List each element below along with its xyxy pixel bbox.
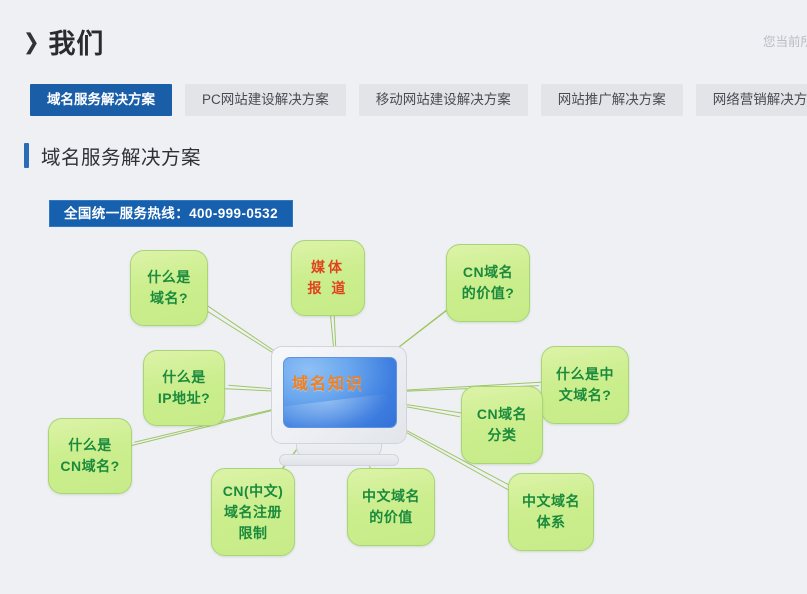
mindmap: 域名知识 什么是 域名?媒体 报 道CN域名 的价值?什么是 IP地址?什么是中… bbox=[0, 228, 807, 568]
tab-1[interactable]: PC网站建设解决方案 bbox=[185, 84, 346, 116]
mindmap-node-label: CN(中文) 域名注册 限制 bbox=[223, 481, 284, 544]
mindmap-node-label: 什么是中 文域名? bbox=[556, 364, 614, 406]
mindmap-center-node[interactable]: 域名知识 bbox=[271, 346, 405, 466]
mindmap-node-label: 什么是 域名? bbox=[147, 267, 191, 309]
monitor-icon: 域名知识 bbox=[271, 346, 407, 444]
section-title: 域名服务解决方案 bbox=[41, 141, 201, 170]
mindmap-node-media-report[interactable]: 媒体 报 道 bbox=[291, 240, 365, 316]
mindmap-node-what-is-cn-domain[interactable]: 什么是 CN域名? bbox=[48, 418, 132, 494]
mindmap-node-what-is-domain[interactable]: 什么是 域名? bbox=[130, 250, 208, 326]
mindmap-node-cn-domain-category[interactable]: CN域名 分类 bbox=[461, 386, 543, 464]
page-root: ❯ 我们 您当前所 域名服务解决方案PC网站建设解决方案移动网站建设解决方案网站… bbox=[0, 0, 807, 594]
section-accent-bar bbox=[24, 143, 29, 168]
monitor-base-icon bbox=[279, 454, 399, 466]
mindmap-node-chinese-domain-system[interactable]: 中文域名 体系 bbox=[508, 473, 594, 551]
hotline-banner: 全国统一服务热线：400-999-0532 bbox=[49, 200, 293, 227]
tab-4[interactable]: 网络营销解决方案 bbox=[696, 84, 807, 116]
page-header: ❯ 我们 您当前所 bbox=[0, 0, 807, 72]
mindmap-node-label: 中文域名 的价值 bbox=[362, 486, 420, 528]
mindmap-node-label: 媒体 报 道 bbox=[308, 257, 349, 299]
page-title-text: 我们 bbox=[48, 22, 104, 61]
tab-2[interactable]: 移动网站建设解决方案 bbox=[359, 84, 528, 116]
section-header: 域名服务解决方案 bbox=[24, 141, 201, 170]
mindmap-node-label: 什么是 IP地址? bbox=[158, 367, 210, 409]
tab-0[interactable]: 域名服务解决方案 bbox=[30, 84, 172, 116]
chevron-right-icon: ❯ bbox=[23, 31, 40, 53]
mindmap-node-label: 什么是 CN域名? bbox=[60, 435, 119, 477]
mindmap-node-chinese-domain-value[interactable]: 中文域名 的价值 bbox=[347, 468, 435, 546]
tab-bar: 域名服务解决方案PC网站建设解决方案移动网站建设解决方案网站推广解决方案网络营销… bbox=[30, 84, 807, 116]
mindmap-center-label: 域名知识 bbox=[272, 347, 384, 416]
mindmap-node-cn-registration-limit[interactable]: CN(中文) 域名注册 限制 bbox=[211, 468, 295, 556]
mindmap-node-label: 中文域名 体系 bbox=[522, 491, 580, 533]
breadcrumb: 您当前所 bbox=[763, 31, 807, 50]
mindmap-node-label: CN域名 的价值? bbox=[462, 262, 515, 304]
mindmap-node-what-is-ip[interactable]: 什么是 IP地址? bbox=[143, 350, 225, 426]
mindmap-node-what-is-chinese-domain[interactable]: 什么是中 文域名? bbox=[541, 346, 629, 424]
mindmap-node-label: CN域名 分类 bbox=[477, 404, 527, 446]
page-title: ❯ 我们 bbox=[22, 22, 104, 61]
mindmap-node-cn-domain-value[interactable]: CN域名 的价值? bbox=[446, 244, 530, 322]
tab-3[interactable]: 网站推广解决方案 bbox=[541, 84, 683, 116]
